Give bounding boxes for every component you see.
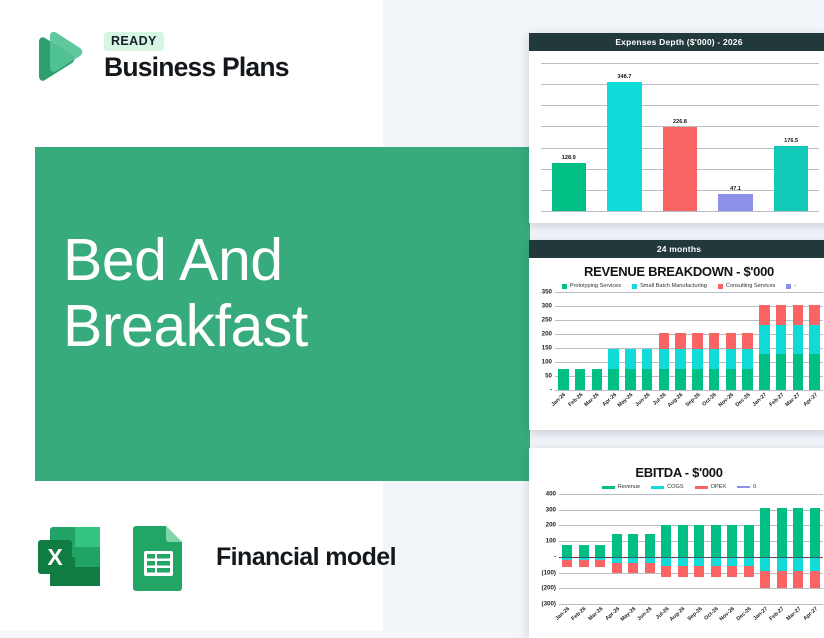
legend-item: Consulting Services [718, 283, 775, 289]
legend-item: COGS [651, 484, 683, 490]
y-axis-tick: 400 [546, 491, 556, 498]
bar-value-label: 226.8 [673, 119, 687, 125]
chart-plot-ebitda: 400300200100-(100)(200)(300) [559, 494, 823, 604]
bar-segment [608, 369, 618, 390]
ready-badge: READY [104, 32, 164, 51]
svg-text:X: X [47, 544, 63, 570]
y-axis-tick: 300 [542, 303, 552, 310]
bar-slot [672, 292, 689, 390]
bar-slot [555, 292, 572, 390]
bar-segment [742, 333, 752, 350]
bar-slot [773, 292, 790, 390]
legend-swatch [786, 284, 791, 289]
gridline [541, 211, 819, 212]
x-axis-slot: Apr-27 [806, 390, 823, 416]
chart-card-revenue-breakdown: 24 months REVENUE BREAKDOWN - $'000 Prot… [529, 240, 824, 430]
y-axis-tick: 350 [542, 289, 552, 296]
title-banner: Bed And Breakfast [35, 147, 530, 481]
chart-plot-revenue: 35030025020015010050- [555, 292, 823, 390]
legend-label: Consulting Services [726, 283, 775, 289]
brand-header: READY Business Plans [28, 26, 289, 88]
bar-slot [572, 292, 589, 390]
stacked-bar[interactable] [759, 305, 769, 390]
bar-segment [776, 325, 786, 354]
bar[interactable] [663, 127, 697, 211]
stacked-bar[interactable] [742, 333, 752, 390]
bar-segment [759, 305, 769, 325]
legend-swatch [602, 486, 615, 489]
bar-segment [558, 369, 568, 390]
bar[interactable] [552, 163, 586, 211]
legend-label: Revenue [618, 484, 640, 490]
stacked-bar[interactable] [776, 305, 786, 390]
stacked-bar[interactable] [675, 333, 685, 390]
x-axis-tick: Jan-26 [555, 606, 572, 622]
legend-swatch [718, 284, 723, 289]
bar[interactable] [607, 82, 641, 211]
brand-title: Business Plans [104, 54, 289, 82]
bar-slot [639, 292, 656, 390]
bar-segment [793, 325, 803, 354]
legend-label: - [794, 283, 796, 289]
y-axis-tick: 250 [542, 317, 552, 324]
bar-segment [608, 349, 618, 369]
bar-segment [726, 333, 736, 350]
legend-item: Prototyping Services [562, 283, 621, 289]
stacked-bar[interactable] [809, 305, 819, 390]
legend-item: Small Batch Manufacturing [632, 283, 707, 289]
bar-slot [589, 292, 606, 390]
bar-value-label: 128.9 [562, 155, 576, 161]
legend-label: Prototyping Services [570, 283, 621, 289]
bar-segment [575, 369, 585, 390]
bar-segment [809, 305, 819, 325]
bar[interactable] [774, 146, 808, 211]
y-axis-tick: 100 [546, 538, 556, 545]
bar-segment [675, 369, 685, 390]
google-sheets-icon [122, 520, 196, 594]
legend-label: Small Batch Manufacturing [640, 283, 707, 289]
bar-value-label: 47.1 [730, 186, 741, 192]
y-axis-tick: (300) [542, 601, 556, 608]
y-axis-tick: - [554, 553, 556, 560]
bar-segment [692, 369, 702, 390]
legend-item: OPEX [695, 484, 727, 490]
bar-segment [809, 354, 819, 390]
bar-segment [776, 305, 786, 325]
y-axis-tick: 200 [546, 522, 556, 529]
y-axis-tick: 150 [542, 345, 552, 352]
y-axis-tick: 200 [542, 331, 552, 338]
bar-slot [756, 292, 773, 390]
stacked-bar[interactable] [575, 369, 585, 390]
bar-segment [692, 349, 702, 369]
stacked-bar[interactable] [659, 333, 669, 390]
bar-segment [793, 305, 803, 325]
legend-label: 0 [753, 484, 756, 490]
chart-card-expenses: Expenses Depth ($'000) - 2026 128.9348.7… [529, 33, 824, 223]
chart-title-revenue: REVENUE BREAKDOWN - $'000 [529, 258, 824, 281]
chart-plot-expenses: 128.9348.7226.847.1176.5 [541, 63, 819, 211]
bar-segment [625, 349, 635, 369]
y-axis-tick: (100) [542, 569, 556, 576]
bar-segment [726, 369, 736, 390]
bar-segment [776, 354, 786, 390]
bar[interactable] [718, 194, 752, 211]
bar-slot [739, 292, 756, 390]
stacked-bar[interactable] [709, 333, 719, 390]
bar-group: 128.9348.7226.847.1176.5 [541, 63, 819, 211]
legend-item: 0 [737, 484, 756, 490]
legend-swatch [737, 486, 750, 488]
bar-segment [675, 349, 685, 369]
bar-segment [809, 325, 819, 354]
legend-label: OPEX [711, 484, 727, 490]
bar-segment [659, 349, 669, 369]
stacked-bar[interactable] [608, 349, 618, 390]
stacked-bar[interactable] [558, 369, 568, 390]
legend-swatch [695, 486, 708, 489]
bar-slot: 176.5 [763, 63, 819, 211]
plan-title: Bed And Breakfast [63, 227, 308, 359]
play-triangles-logo-icon [28, 26, 90, 88]
brand-text-block: READY Business Plans [104, 32, 289, 81]
stacked-bar[interactable] [592, 369, 602, 390]
y-axis-tick: 300 [546, 506, 556, 513]
legend-item: Revenue [602, 484, 640, 490]
bar-segment [709, 333, 719, 350]
bar-value-label: 176.5 [784, 138, 798, 144]
legend-swatch [632, 284, 637, 289]
stacked-bar[interactable] [625, 349, 635, 390]
footer-label: Financial model [216, 543, 396, 572]
stacked-bar[interactable] [726, 333, 736, 390]
bar-slot: 226.8 [652, 63, 708, 211]
x-axis-tick: Jul-26 [652, 392, 668, 407]
bar-slot [790, 292, 807, 390]
chart-topbar-expenses: Expenses Depth ($'000) - 2026 [529, 33, 824, 51]
bar-slot [706, 292, 723, 390]
bar-segment [709, 369, 719, 390]
bar-slot [622, 292, 639, 390]
bar-segment [692, 333, 702, 350]
bar-slot [723, 292, 740, 390]
legend-item: - [786, 283, 796, 289]
chart-topbar-revenue: 24 months [529, 240, 824, 258]
y-axis-tick: (200) [542, 585, 556, 592]
chart-xaxis-ebitda: Jan-26Feb-26Mar-26Apr-26May-26Jun-26Jul-… [559, 604, 823, 630]
bar-group [555, 292, 823, 390]
bar-segment [592, 369, 602, 390]
stacked-bar[interactable] [642, 349, 652, 390]
bar-slot [605, 292, 622, 390]
bar-segment [742, 349, 752, 369]
microsoft-excel-icon: X [32, 520, 106, 594]
bar-segment [759, 354, 769, 390]
bar-segment [759, 325, 769, 354]
bar-segment [726, 349, 736, 369]
bar-slot: 348.7 [597, 63, 653, 211]
x-axis-tick: Jan-26 [551, 392, 568, 408]
footer-row: X Financial model [32, 520, 396, 594]
bar-segment [709, 349, 719, 369]
bar-slot [689, 292, 706, 390]
legend-swatch [562, 284, 567, 289]
chart-card-ebitda: EBITDA - $'000 RevenueCOGSOPEX0 40030020… [529, 448, 824, 638]
bar-segment [742, 369, 752, 390]
chart-legend-ebitda: RevenueCOGSOPEX0 [529, 482, 824, 491]
bar-segment [659, 333, 669, 350]
bar-segment [642, 349, 652, 369]
bar-slot: 47.1 [708, 63, 764, 211]
bar-segment [642, 369, 652, 390]
y-axis-tick: 50 [545, 373, 552, 380]
bar-segment [793, 354, 803, 390]
x-axis-slot: Apr-27 [807, 604, 824, 630]
legend-swatch [651, 486, 664, 489]
stacked-bar[interactable] [793, 305, 803, 390]
bar-segment [625, 369, 635, 390]
y-axis-tick: - [550, 387, 552, 394]
bar-slot [806, 292, 823, 390]
legend-label: COGS [667, 484, 683, 490]
bar-segment [675, 333, 685, 350]
bar-segment [659, 369, 669, 390]
stacked-bar[interactable] [692, 333, 702, 390]
chart-xaxis-revenue: Jan-26Feb-26Mar-26Apr-26May-26Jun-26Jul-… [555, 390, 823, 416]
bar-slot [656, 292, 673, 390]
chart-legend-revenue: Prototyping ServicesSmall Batch Manufact… [529, 281, 824, 290]
chart-title-ebitda: EBITDA - $'000 [529, 448, 824, 482]
bar-value-label: 348.7 [617, 74, 631, 80]
bar-slot: 128.9 [541, 63, 597, 211]
y-axis-tick: 100 [542, 359, 552, 366]
